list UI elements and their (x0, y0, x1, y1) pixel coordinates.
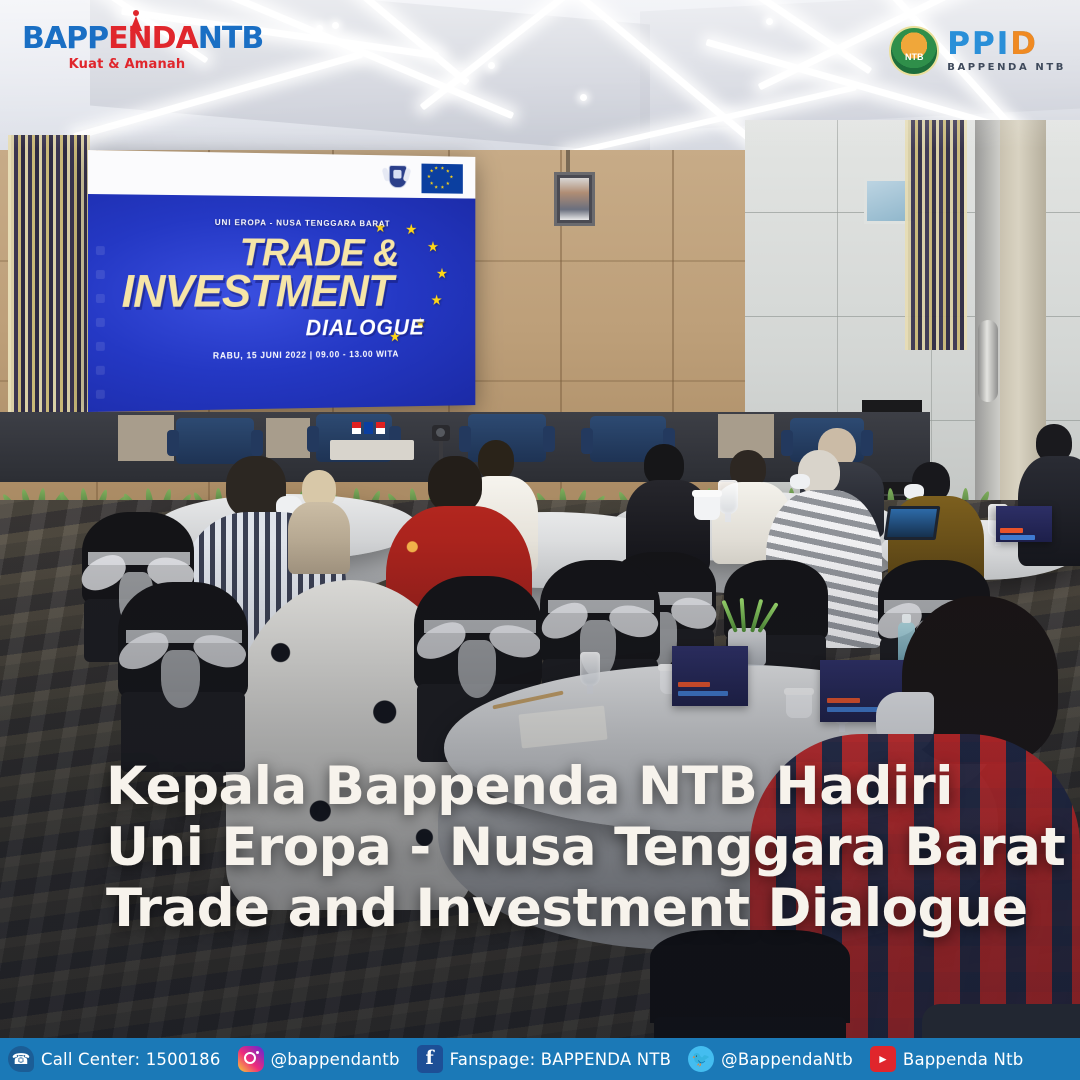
table-flags (352, 422, 392, 442)
footer-item-call-center[interactable]: ☎ Call Center: 1500186 (8, 1046, 221, 1072)
twitter-icon: 🐦 (688, 1046, 714, 1072)
table-tent-card (996, 506, 1052, 542)
laptop (884, 506, 941, 540)
column-cylinder-fixture (978, 320, 998, 402)
ppid-d: D (1010, 26, 1038, 62)
water-glass (718, 480, 738, 514)
footer-label-twitter: @BappendaNtb (721, 1050, 853, 1069)
footer-item-youtube[interactable]: ► Bappenda Ntb (870, 1046, 1024, 1072)
logo-word-part1: BAPP (22, 21, 108, 56)
coffee-cup (694, 494, 720, 520)
logo-tagline: Kuat & Amanah (22, 57, 232, 72)
slide-date: RABU, 15 JUNI 2022 | 09.00 - 13.00 WITA (213, 349, 399, 361)
ppid-wordmark: PPID (947, 29, 1066, 60)
slide-side-dots (96, 246, 106, 412)
footer-label-instagram: @bappendantb (271, 1050, 400, 1069)
footer-label-call-center: Call Center: 1500186 (41, 1050, 221, 1069)
slide-title-line2: INVESTMENT (122, 264, 393, 318)
framed-portrait (554, 172, 595, 226)
bappenda-ntb-logo: BAPPENDANTB Kuat & Amanah (22, 24, 232, 72)
headline-line-3: Trade and Investment Dialogue (106, 879, 1046, 940)
footer-item-instagram[interactable]: @bappendantb (238, 1046, 400, 1072)
ppid-pp: PP (947, 26, 996, 62)
ppid-subtitle: BAPPENDA NTB (947, 63, 1066, 73)
phone-icon: ☎ (8, 1046, 34, 1072)
headline-line-1: Kepala Bappenda NTB Hadiri (106, 757, 1046, 818)
ppid-text-block: PPID BAPPENDA NTB (947, 29, 1066, 73)
slide-kicker: UNI EROPA - NUSA TENGGARA BARAT (215, 217, 391, 228)
screen-header-strip: ★ ★ ★ ★ ★ ★ ★ ★ ★ ★ (88, 150, 475, 199)
headline-line-2: Uni Eropa - Nusa Tenggara Barat (106, 818, 1046, 879)
bull-figure-icon (126, 10, 146, 32)
footer-label-youtube: Bappenda Ntb (903, 1050, 1024, 1069)
ppid-i: I (997, 26, 1011, 62)
headline-text: Kepala Bappenda NTB Hadiri Uni Eropa - N… (106, 757, 1046, 940)
social-media-footer-bar: ☎ Call Center: 1500186 @bappendantb f Fa… (0, 1038, 1080, 1080)
facebook-icon: f (417, 1045, 443, 1073)
video-camera (432, 425, 450, 441)
footer-label-facebook: Fanspage: BAPPENDA NTB (450, 1050, 672, 1069)
youtube-icon: ► (870, 1046, 896, 1072)
logo-word-part3: A (176, 21, 198, 56)
logo-word-part4: NTB (198, 21, 263, 56)
footer-item-facebook[interactable]: f Fanspage: BAPPENDA NTB (417, 1045, 672, 1073)
ntb-seal-icon (889, 26, 939, 76)
ntb-provincial-emblem-icon (383, 163, 410, 192)
songket-panel-right (905, 120, 967, 350)
slide-subtitle: DIALOGUE (306, 314, 425, 341)
social-media-card: ★ ★ ★ ★ ★ ★ ★ ★ ★ ★ ★ ★ ★ (0, 0, 1080, 1080)
european-union-flag-icon: ★ ★ ★ ★ ★ ★ ★ ★ ★ ★ (421, 164, 462, 194)
slide-content: ★ ★ ★ ★ ★ ★ ★ UNI EROPA - NUSA TENGGARA … (88, 194, 475, 412)
projection-screen: ★ ★ ★ ★ ★ ★ ★ ★ ★ ★ ★ ★ ★ (88, 150, 475, 412)
footer-item-twitter[interactable]: 🐦 @BappendaNtb (688, 1046, 853, 1072)
instagram-icon (238, 1046, 264, 1072)
ppid-bappenda-logo: PPID BAPPENDA NTB (889, 24, 1066, 78)
